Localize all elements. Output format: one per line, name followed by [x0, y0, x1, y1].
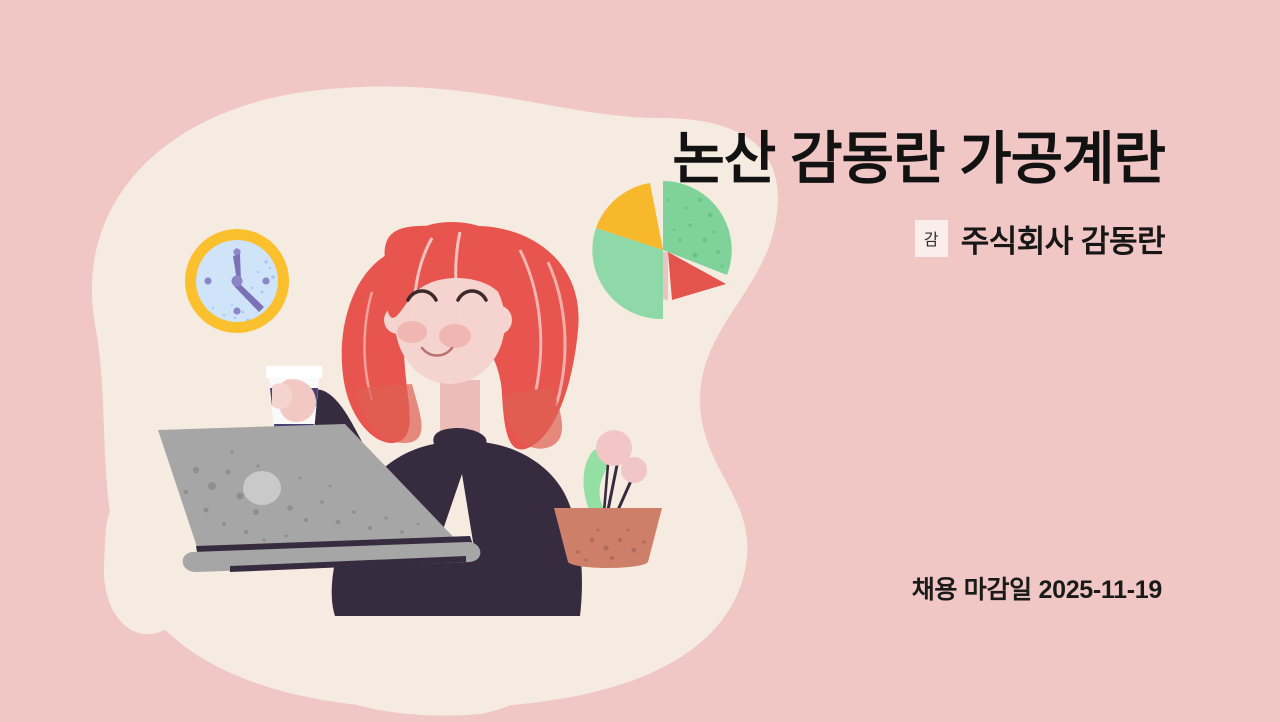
- laptop-logo: [243, 471, 281, 505]
- application-deadline: 채용 마감일 2025-11-19: [912, 576, 1162, 604]
- job-header-text: 논산 감동란 가공계란 감 주식회사 감동란: [405, 128, 1165, 261]
- company-row: 감 주식회사 감동란: [405, 216, 1165, 261]
- cup-lid: [266, 366, 322, 378]
- cheek-left: [397, 321, 427, 343]
- clock-hour-mark-3: [262, 277, 269, 284]
- coffee-cup-graphic: [266, 366, 322, 434]
- illustration-artwork: [0, 0, 1280, 722]
- job-posting-banner: 논산 감동란 가공계란 감 주식회사 감동란 채용 마감일 2025-11-19: [0, 0, 1280, 722]
- page-title: 논산 감동란 가공계란: [405, 128, 1165, 192]
- cheek-right: [439, 324, 471, 348]
- clock-center-pin: [232, 276, 243, 287]
- company-logo-badge: 감: [915, 220, 948, 257]
- flower-head-small: [621, 457, 647, 483]
- clock-hour-mark-6: [233, 307, 240, 314]
- deadline-block: 채용 마감일 2025-11-19: [912, 570, 1162, 606]
- clock-hour-mark-9: [204, 277, 211, 284]
- plant-pot: [554, 508, 662, 568]
- wall-clock-graphic: [185, 229, 289, 333]
- ear-right: [482, 305, 512, 335]
- company-name: 주식회사 감동란: [961, 216, 1165, 261]
